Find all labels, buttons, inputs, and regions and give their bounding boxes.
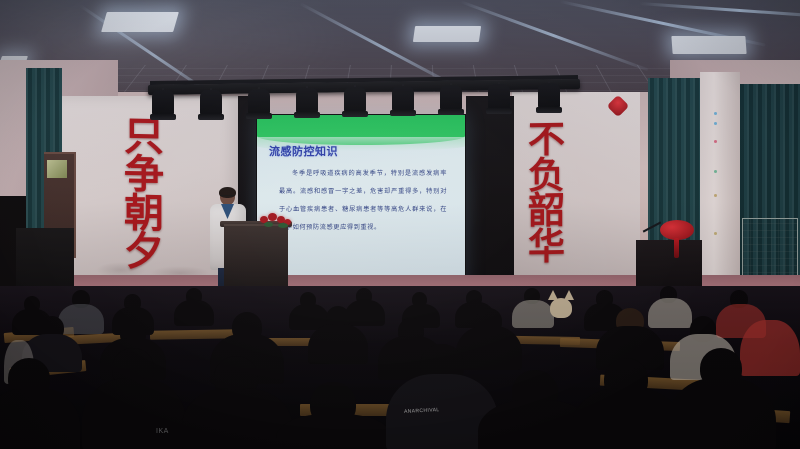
light-lens bbox=[442, 110, 460, 113]
light-lens bbox=[394, 111, 412, 114]
audience-shoulders bbox=[345, 300, 385, 326]
stage-light bbox=[440, 85, 462, 111]
stage-light bbox=[296, 88, 318, 114]
stage-light bbox=[392, 86, 414, 112]
jacket-logo-text: IKA bbox=[156, 428, 169, 435]
wall-pillar bbox=[700, 72, 740, 307]
audience-shoulders bbox=[174, 300, 214, 326]
stage-light bbox=[248, 89, 270, 115]
auditorium-photo: 只 争 朝 夕 不 负 韶 华 流感防控知识 冬季是呼吸道疾病的高发季节，特别是… bbox=[0, 0, 800, 449]
slide-title: 流感防控知识 bbox=[269, 143, 338, 159]
stage-light bbox=[152, 90, 174, 116]
stage-light bbox=[344, 87, 366, 113]
light-lens bbox=[346, 112, 364, 115]
pillar-marker-dot bbox=[714, 112, 717, 115]
pillar-marker-dot bbox=[714, 232, 717, 235]
audience-shoulders bbox=[82, 378, 186, 449]
stage-backdrop-right bbox=[466, 96, 514, 296]
wall-calligraphy-left: 只 争 朝 夕 bbox=[124, 118, 164, 272]
audience-shoulders bbox=[276, 414, 392, 449]
audience-shoulders bbox=[648, 298, 692, 328]
flower-leaf bbox=[264, 222, 273, 227]
glasses-icon bbox=[220, 195, 235, 199]
flower-petal bbox=[268, 213, 277, 221]
light-lens bbox=[298, 113, 316, 116]
stage-light bbox=[488, 84, 510, 110]
audience-shoulders bbox=[668, 378, 776, 449]
presentation-slide: 流感防控知识 冬季是呼吸道疾病的高发季节，特别是流感发病率最高。流感和感冒一字之… bbox=[257, 115, 465, 285]
calligraphy-char: 华 bbox=[528, 228, 565, 264]
audience-head bbox=[550, 298, 572, 318]
slide-header-band bbox=[257, 115, 465, 145]
audience-shoulders bbox=[512, 300, 554, 328]
light-lens bbox=[490, 109, 508, 112]
red-lantern bbox=[660, 220, 694, 240]
audience-shoulders bbox=[456, 326, 522, 370]
calligraphy-char: 夕 bbox=[124, 233, 164, 272]
slide-body-text: 冬季是呼吸道疾病的高发季节，特别是流感发病率最高。流感和感冒一字之差，危害却严重… bbox=[279, 165, 447, 237]
lantern-tassel bbox=[674, 238, 679, 258]
pillar-marker-dot bbox=[714, 170, 717, 173]
wall-calligraphy-right: 不 负 韶 华 bbox=[528, 122, 565, 265]
audience-area: ANARCHIVAL IKA bbox=[0, 286, 800, 449]
light-lens bbox=[202, 115, 220, 118]
light-lens bbox=[250, 114, 268, 117]
stage-light bbox=[538, 83, 560, 109]
light-lens bbox=[154, 115, 172, 118]
light-lens bbox=[540, 108, 558, 111]
audience-shoulders bbox=[58, 304, 104, 334]
pillar-marker-dot bbox=[714, 194, 717, 197]
pillar-marker-dot bbox=[714, 140, 717, 143]
flower-leaf bbox=[278, 223, 288, 228]
door-window bbox=[47, 160, 67, 178]
pillar-marker-dot bbox=[714, 122, 717, 125]
audience-jacket bbox=[740, 320, 800, 376]
stage-light bbox=[200, 90, 222, 116]
audience-shoulders bbox=[308, 324, 368, 364]
podium-flowers bbox=[258, 212, 294, 228]
audience-shoulders bbox=[572, 388, 682, 449]
